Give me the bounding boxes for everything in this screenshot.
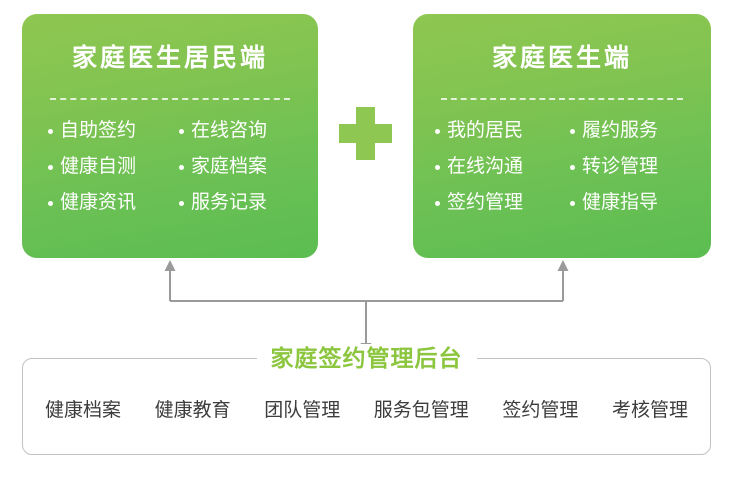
card-resident-column-2: 在线咨询 家庭档案 服务记录 — [179, 120, 292, 214]
card-doctor-divider — [441, 98, 683, 100]
plus-icon — [339, 107, 392, 160]
panel-item-team-management[interactable]: 团队管理 — [264, 399, 340, 423]
panel-management-backend[interactable]: 家庭签约管理后台 健康档案 健康教育 团队管理 服务包管理 签约管理 考核管理 — [22, 358, 711, 455]
card-resident-column-1: 自助签约 健康自测 健康资讯 — [48, 120, 161, 214]
list-item[interactable]: 我的居民 — [435, 120, 554, 142]
card-doctor-column-2: 履约服务 转诊管理 健康指导 — [570, 120, 689, 214]
list-item[interactable]: 转诊管理 — [570, 156, 689, 178]
list-item-label: 健康自测 — [60, 156, 136, 178]
panel-item-assessment-management[interactable]: 考核管理 — [612, 399, 688, 423]
list-item-label: 我的居民 — [447, 120, 523, 142]
list-item[interactable]: 健康指导 — [570, 192, 689, 214]
bullet-dot-icon — [435, 165, 440, 170]
card-resident-title: 家庭医生居民端 — [22, 46, 318, 71]
bullet-dot-icon — [48, 129, 53, 134]
list-item[interactable]: 健康资讯 — [48, 192, 161, 214]
list-item-label: 转诊管理 — [582, 156, 658, 178]
bullet-dot-icon — [179, 165, 184, 170]
card-doctor-column-1: 我的居民 在线沟通 签约管理 — [435, 120, 554, 214]
list-item[interactable]: 服务记录 — [179, 192, 292, 214]
list-item[interactable]: 履约服务 — [570, 120, 689, 142]
list-item-label: 健康指导 — [582, 192, 658, 214]
bullet-dot-icon — [435, 129, 440, 134]
list-item[interactable]: 自助签约 — [48, 120, 161, 142]
card-resident-divider — [50, 98, 290, 100]
list-item-label: 履约服务 — [582, 120, 658, 142]
list-item[interactable]: 在线沟通 — [435, 156, 554, 178]
list-item[interactable]: 签约管理 — [435, 192, 554, 214]
panel-item-contract-management[interactable]: 签约管理 — [502, 399, 578, 423]
list-item-label: 服务记录 — [191, 192, 267, 214]
panel-item-list: 健康档案 健康教育 团队管理 服务包管理 签约管理 考核管理 — [45, 399, 688, 423]
arrow-up-left-icon — [165, 260, 176, 271]
list-item-label: 在线沟通 — [447, 156, 523, 178]
bullet-dot-icon — [570, 165, 575, 170]
bullet-dot-icon — [179, 129, 184, 134]
plus-icon-vertical-bar — [356, 107, 375, 160]
diagram-canvas: 家庭医生居民端 自助签约 健康自测 健康资讯 — [0, 0, 750, 481]
list-item[interactable]: 健康自测 — [48, 156, 161, 178]
list-item[interactable]: 家庭档案 — [179, 156, 292, 178]
card-doctor-app[interactable]: 家庭医生端 我的居民 在线沟通 签约管理 履 — [413, 14, 711, 258]
card-doctor-feature-list: 我的居民 在线沟通 签约管理 履约服务 转诊管理 — [413, 120, 711, 214]
panel-item-service-package-management[interactable]: 服务包管理 — [374, 399, 469, 423]
bullet-dot-icon — [570, 129, 575, 134]
list-item-label: 家庭档案 — [191, 156, 267, 178]
card-resident-feature-list: 自助签约 健康自测 健康资讯 在线咨询 家庭档案 — [22, 120, 318, 214]
panel-title: 家庭签约管理后台 — [257, 344, 477, 372]
bullet-dot-icon — [435, 201, 440, 206]
bullet-dot-icon — [48, 165, 53, 170]
list-item-label: 健康资讯 — [60, 192, 136, 214]
list-item-label: 在线咨询 — [191, 120, 267, 142]
bullet-dot-icon — [48, 201, 53, 206]
panel-item-health-records[interactable]: 健康档案 — [45, 399, 121, 423]
card-doctor-title: 家庭医生端 — [413, 46, 711, 71]
bullet-dot-icon — [570, 201, 575, 206]
bullet-dot-icon — [179, 201, 184, 206]
arrow-up-right-icon — [558, 260, 569, 271]
panel-item-health-education[interactable]: 健康教育 — [155, 399, 231, 423]
list-item-label: 签约管理 — [447, 192, 523, 214]
list-item-label: 自助签约 — [60, 120, 136, 142]
card-resident-app[interactable]: 家庭医生居民端 自助签约 健康自测 健康资讯 — [22, 14, 318, 258]
list-item[interactable]: 在线咨询 — [179, 120, 292, 142]
